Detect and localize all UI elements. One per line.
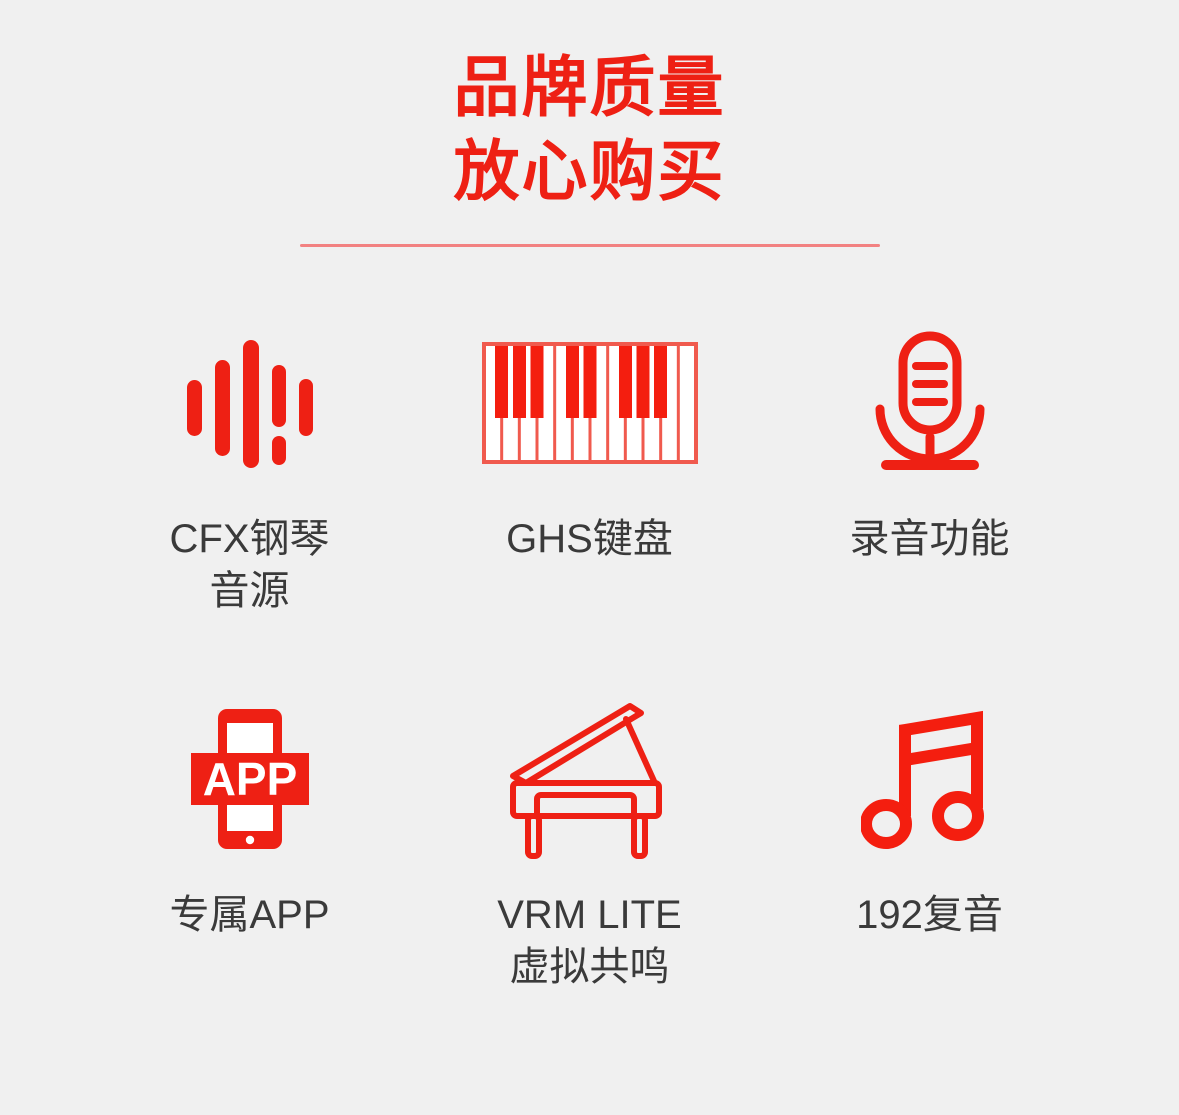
icon-container	[868, 319, 992, 487]
feature-cell-polyphony[interactable]: 192复音	[760, 695, 1100, 941]
feature-cell-ghs-keyboard[interactable]: GHS键盘	[420, 319, 760, 565]
piano-keyboard-icon	[482, 342, 698, 464]
feature-label: 专属APP	[169, 889, 329, 941]
feature-label: CFX钢琴 音源	[170, 513, 330, 617]
app-tablet-icon: APP	[188, 706, 312, 852]
feature-grid: CFX钢琴 音源	[0, 319, 1179, 993]
icon-container	[185, 319, 315, 487]
feature-row-2: APP 专属APP	[0, 695, 1179, 993]
icon-container	[482, 319, 698, 487]
app-icon-text: APP	[202, 753, 297, 805]
header-divider	[300, 244, 880, 247]
page-header: 品牌质量 放心购买	[0, 0, 1179, 247]
music-note-icon	[861, 704, 999, 854]
divider-wrapper	[0, 244, 1179, 247]
feature-label: 录音功能	[850, 513, 1010, 565]
icon-container	[504, 695, 676, 863]
feature-label: GHS键盘	[506, 513, 673, 565]
feature-cell-recording[interactable]: 录音功能	[760, 319, 1100, 565]
grand-piano-icon	[504, 699, 676, 859]
feature-label: VRM LITE 虚拟共鸣	[497, 889, 681, 993]
feature-cell-dedicated-app[interactable]: APP 专属APP	[80, 695, 420, 941]
icon-container: APP	[188, 695, 312, 863]
feature-label: 192复音	[856, 889, 1003, 941]
page-title-line-1: 品牌质量	[0, 46, 1179, 130]
feature-cell-cfx-piano-voice[interactable]: CFX钢琴 音源	[80, 319, 420, 617]
icon-container	[861, 695, 999, 863]
feature-row-1: CFX钢琴 音源	[0, 319, 1179, 617]
microphone-icon	[868, 331, 992, 475]
feature-cell-vrm-lite[interactable]: VRM LITE 虚拟共鸣	[420, 695, 760, 993]
sound-wave-icon	[185, 336, 315, 470]
page-title-line-2: 放心购买	[0, 130, 1179, 214]
